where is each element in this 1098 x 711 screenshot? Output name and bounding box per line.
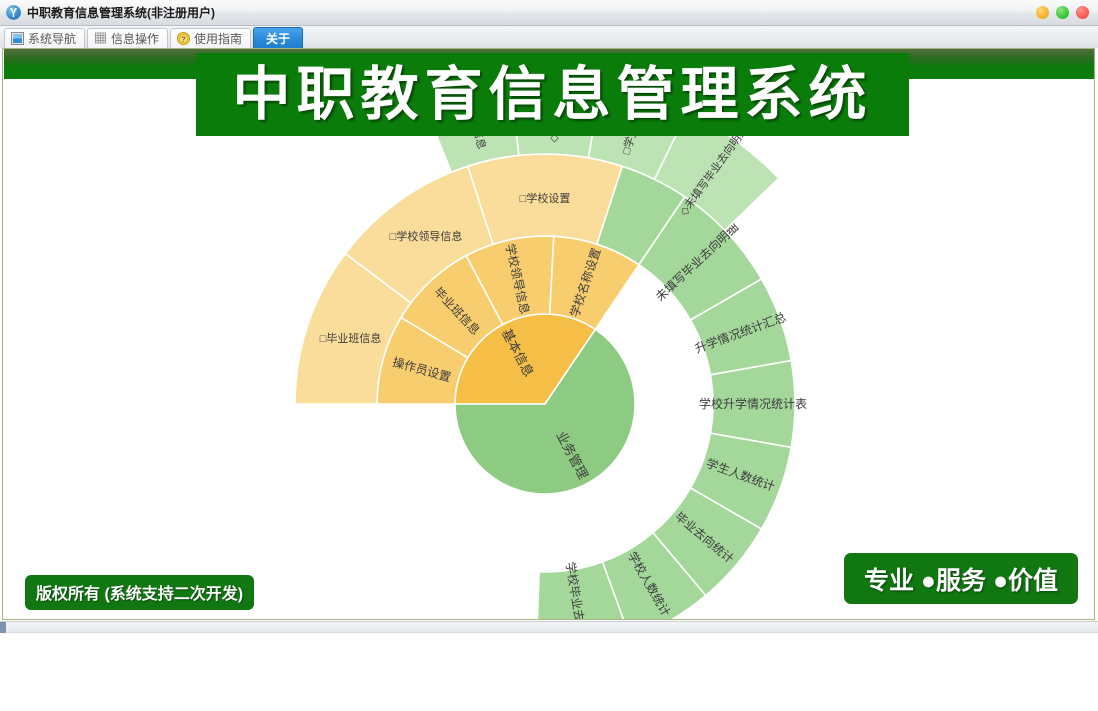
app-logo-icon: [6, 5, 21, 20]
slogan-badge: 专业 ●服务 ●价值: [844, 553, 1078, 604]
banner-title: 中职教育信息管理系统: [232, 66, 872, 124]
question-coin-icon: ?: [177, 32, 190, 45]
sunburst-label: □学校领导信息: [390, 229, 463, 243]
monitor-icon: [11, 32, 24, 45]
tab-system-navigation[interactable]: 系统导航: [4, 28, 85, 48]
tab-user-guide[interactable]: ? 使用指南: [170, 28, 251, 48]
window-titlebar: 中职教育信息管理系统(非注册用户): [0, 0, 1098, 26]
maximize-button[interactable]: [1056, 6, 1069, 19]
tab-information-operation[interactable]: 信息操作: [87, 28, 168, 48]
copyright-badge: 版权所有 (系统支持二次开发): [25, 575, 254, 610]
sunburst-label: 学校升学情况统计表: [699, 396, 807, 411]
banner-title-plate: 中职教育信息管理系统: [196, 53, 909, 136]
close-button[interactable]: [1076, 6, 1089, 19]
application-window: 中职教育信息管理系统(非注册用户) 系统导航 信息操作: [0, 0, 1098, 711]
tab-label: 系统导航: [28, 30, 76, 47]
sunburst-label: □学校设置: [520, 191, 571, 205]
tab-label: 关于: [266, 30, 290, 47]
tab-label: 使用指南: [194, 30, 242, 47]
status-strip: [0, 621, 1098, 633]
tab-about[interactable]: 关于: [253, 27, 303, 48]
tab-label: 信息操作: [111, 30, 159, 47]
window-title: 中职教育信息管理系统(非注册用户): [27, 4, 215, 21]
window-controls: [1036, 6, 1089, 19]
sunburst-segment-outer-school-setting[interactable]: □学校设置: [468, 154, 623, 244]
tab-strip: 系统导航 信息操作 ? 使用指南 关于: [0, 26, 1098, 48]
grid-icon: [94, 32, 107, 45]
minimize-button[interactable]: [1036, 6, 1049, 19]
sunburst-label: □毕业班信息: [320, 331, 382, 345]
svg-text:?: ?: [181, 35, 186, 44]
about-page-content: 学生信息基本信息业务管理操作员设置毕业班信息学校领导信息学校名称设置学生信息未填…: [2, 48, 1095, 620]
